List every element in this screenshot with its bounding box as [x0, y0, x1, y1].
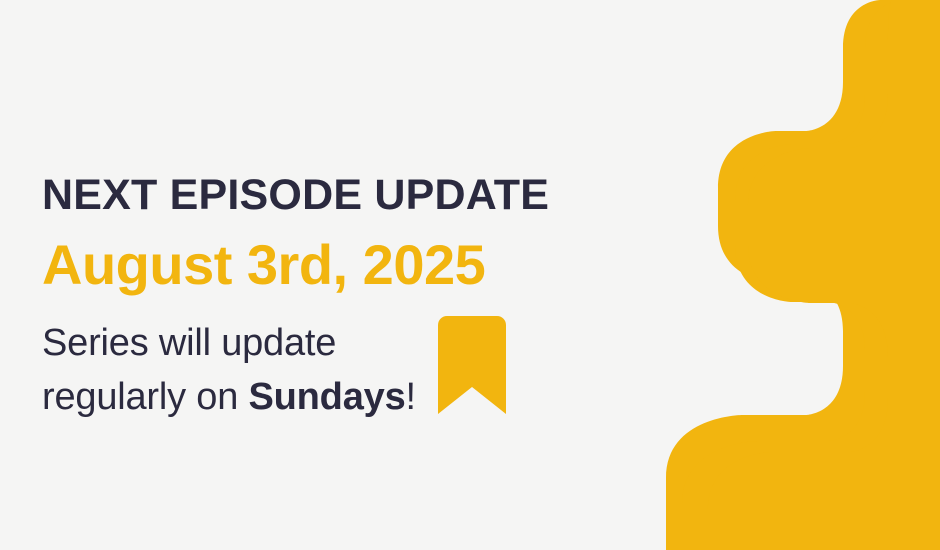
- eyebrow-text: NEXT EPISODE UPDATE: [42, 168, 682, 222]
- subtext-line2-emphasis: Sundays: [249, 376, 406, 418]
- subtext-line2-prefix: regularly on: [42, 376, 249, 418]
- wave-decoration-shape: [640, 0, 940, 550]
- bookmark-icon: [438, 316, 506, 414]
- subtext-row: Series will update regularly on Sundays!: [42, 298, 682, 424]
- wave-decoration-icon: [640, 0, 940, 550]
- bookmark-glyph-icon: [438, 316, 506, 414]
- subtext-line1: Series will update: [42, 322, 336, 364]
- subtext-line2-suffix: !: [406, 376, 416, 418]
- banner-content: NEXT EPISODE UPDATE August 3rd, 2025 Ser…: [42, 168, 682, 424]
- next-episode-update-banner: NEXT EPISODE UPDATE August 3rd, 2025 Ser…: [0, 0, 940, 550]
- headline-date: August 3rd, 2025: [42, 222, 682, 298]
- subtext: Series will update regularly on Sundays!: [42, 316, 416, 424]
